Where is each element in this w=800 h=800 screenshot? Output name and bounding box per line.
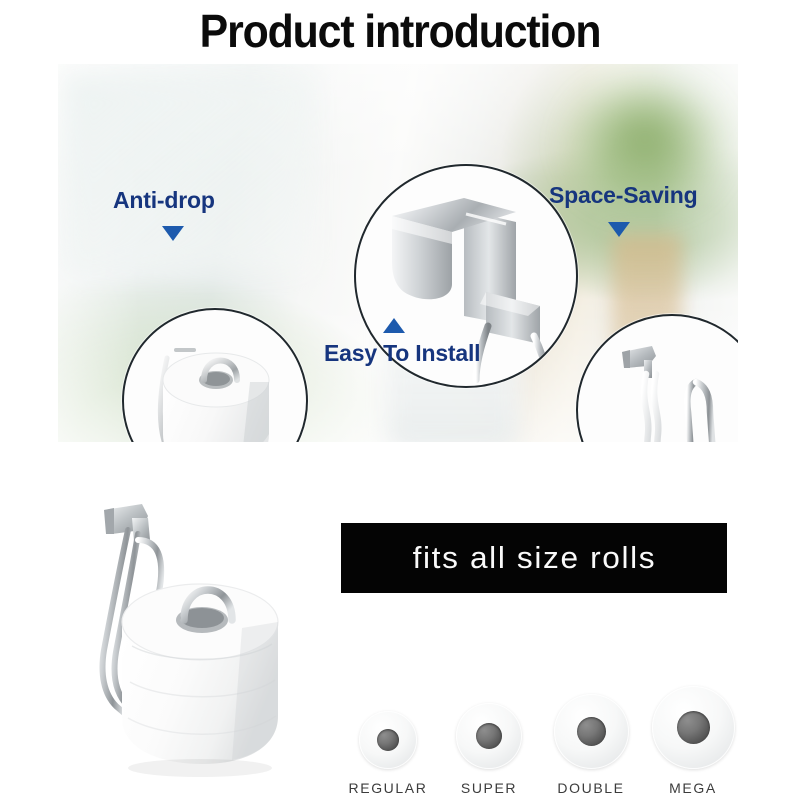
roll-disc-wrap [338,677,438,769]
size-chart: REGULAR SUPER DOUBLE [338,668,748,796]
roll-disc-wrap [439,677,539,769]
roll-disc-icon [554,694,629,769]
arrow-down-icon [608,222,630,237]
roll-core-icon [677,711,710,744]
size-label-super: SUPER [439,780,539,796]
roll-core-icon [377,729,399,751]
hero-photo-panel [58,64,738,442]
roll-disc-icon [359,711,417,769]
feature-label-space-saving: Space-Saving [549,182,697,209]
arrow-down-icon [162,226,184,241]
size-label-mega: MEGA [643,780,743,796]
feature-label-anti-drop: Anti-drop [113,187,215,214]
roll-core-icon [577,717,606,746]
size-item-mega: MEGA [643,677,743,796]
banner: fits all size rolls [341,523,727,593]
roll-disc-icon [652,686,735,769]
size-label-double: DOUBLE [541,780,641,796]
size-label-regular: REGULAR [338,780,438,796]
feature-label-easy-to-install: Easy To Install [324,340,480,367]
size-item-super: SUPER [439,677,539,796]
product-photo [72,496,362,786]
arrow-up-icon [383,318,405,333]
product-illustration [72,496,362,786]
product-infographic: Product introduction [0,0,800,800]
background-tile-blur [64,74,314,274]
page-title: Product introduction [28,2,772,60]
size-item-double: DOUBLE [541,677,641,796]
roll-disc-wrap [643,677,743,769]
roll-disc-wrap [541,677,641,769]
roll-core-icon [476,723,502,749]
banner-text: fits all size rolls [412,540,656,576]
roll-disc-icon [456,703,522,769]
size-item-regular: REGULAR [338,677,438,796]
